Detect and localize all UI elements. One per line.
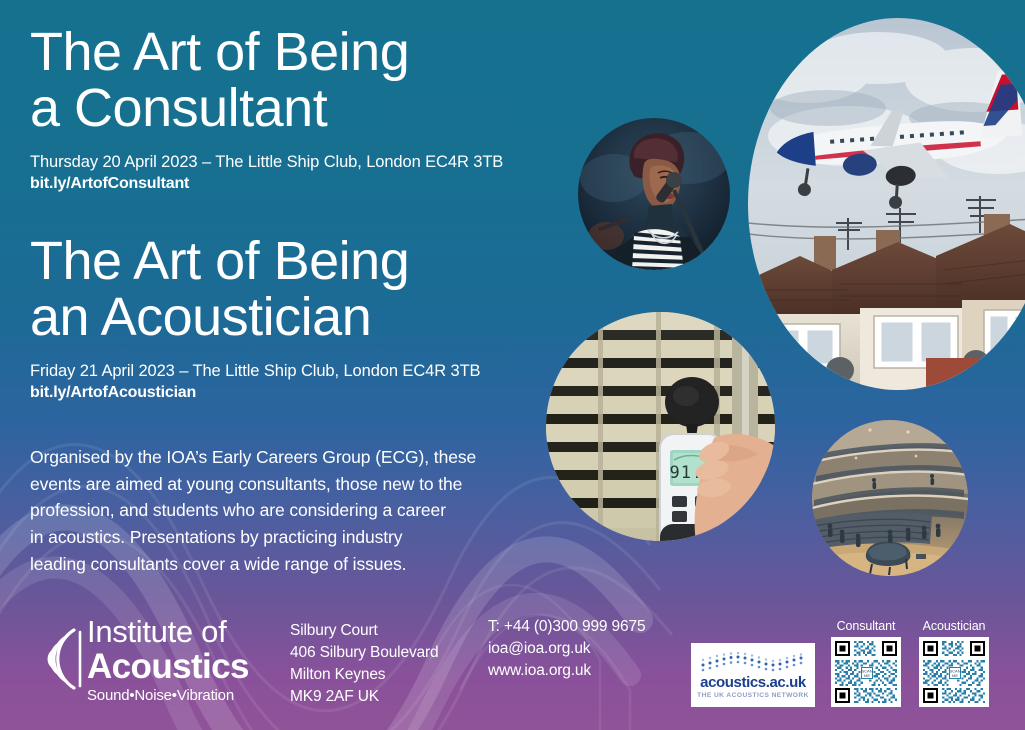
svg-text:ME: ME — [864, 673, 870, 678]
contact-details: T: +44 (0)300 999 9675 ioa@ioa.org.uk ww… — [488, 616, 645, 682]
qr-code-acoustician[interactable]: Acoustician — [919, 619, 989, 707]
svg-text:ME: ME — [952, 673, 958, 678]
aircraft-houses-photo — [748, 18, 1025, 390]
qr-label-consultant: Consultant — [831, 619, 901, 633]
footer: Institute of Acoustics Sound•Noise•Vibra… — [0, 600, 1025, 730]
event-consultant-block: The Art of Being a Consultant Thursday 2… — [30, 24, 590, 193]
acoustics-network-name: acoustics.ac.uk — [700, 675, 806, 690]
qr-code-image-consultant[interactable]: SCAN ME — [831, 637, 901, 707]
ioa-line-acoustics: Acoustics — [87, 649, 249, 685]
ioa-wordmark: Institute of Acoustics Sound•Noise•Vibra… — [87, 616, 249, 705]
ioa-logo: Institute of Acoustics Sound•Noise•Vibra… — [30, 616, 280, 708]
event-details-acoustician: Friday 21 April 2023 – The Little Ship C… — [30, 361, 590, 383]
headline-acoustician: The Art of Being an Acoustician — [30, 233, 590, 345]
dotted-wave-icon — [699, 650, 807, 674]
qr-code-image-acoustician[interactable]: SCAN ME — [919, 637, 989, 707]
acoustics-network-badge[interactable]: acoustics.ac.uk THE UK ACOUSTICS NETWORK — [691, 643, 815, 707]
description-paragraph: Organised by the IOA’s Early Careers Gro… — [30, 444, 530, 577]
ioa-line-institute: Institute of — [87, 616, 249, 649]
event-details-consultant: Thursday 20 April 2023 – The Little Ship… — [30, 152, 590, 174]
ioa-tagline: Sound•Noise•Vibration — [87, 687, 249, 705]
postal-address: Silbury Court 406 Silbury Boulevard Milt… — [290, 620, 439, 708]
headline-consultant: The Art of Being a Consultant — [30, 24, 590, 136]
qr-label-acoustician: Acoustician — [919, 619, 989, 633]
event-link-acoustician[interactable]: bit.ly/ArtofAcoustician — [30, 384, 590, 402]
event-acoustician-block: The Art of Being an Acoustician Friday 2… — [30, 233, 590, 402]
main-content: The Art of Being a Consultant Thursday 2… — [30, 24, 590, 577]
singer-photo — [578, 118, 730, 270]
qr-code-consultant[interactable]: Consultant — [831, 619, 901, 707]
sound-waves-icon — [30, 624, 86, 694]
acoustics-network-subtitle: THE UK ACOUSTICS NETWORK — [697, 693, 809, 700]
event-link-consultant[interactable]: bit.ly/ArtofConsultant — [30, 175, 590, 193]
poster-root: 91.0 — [0, 0, 1025, 730]
concert-hall-photo — [812, 420, 968, 576]
